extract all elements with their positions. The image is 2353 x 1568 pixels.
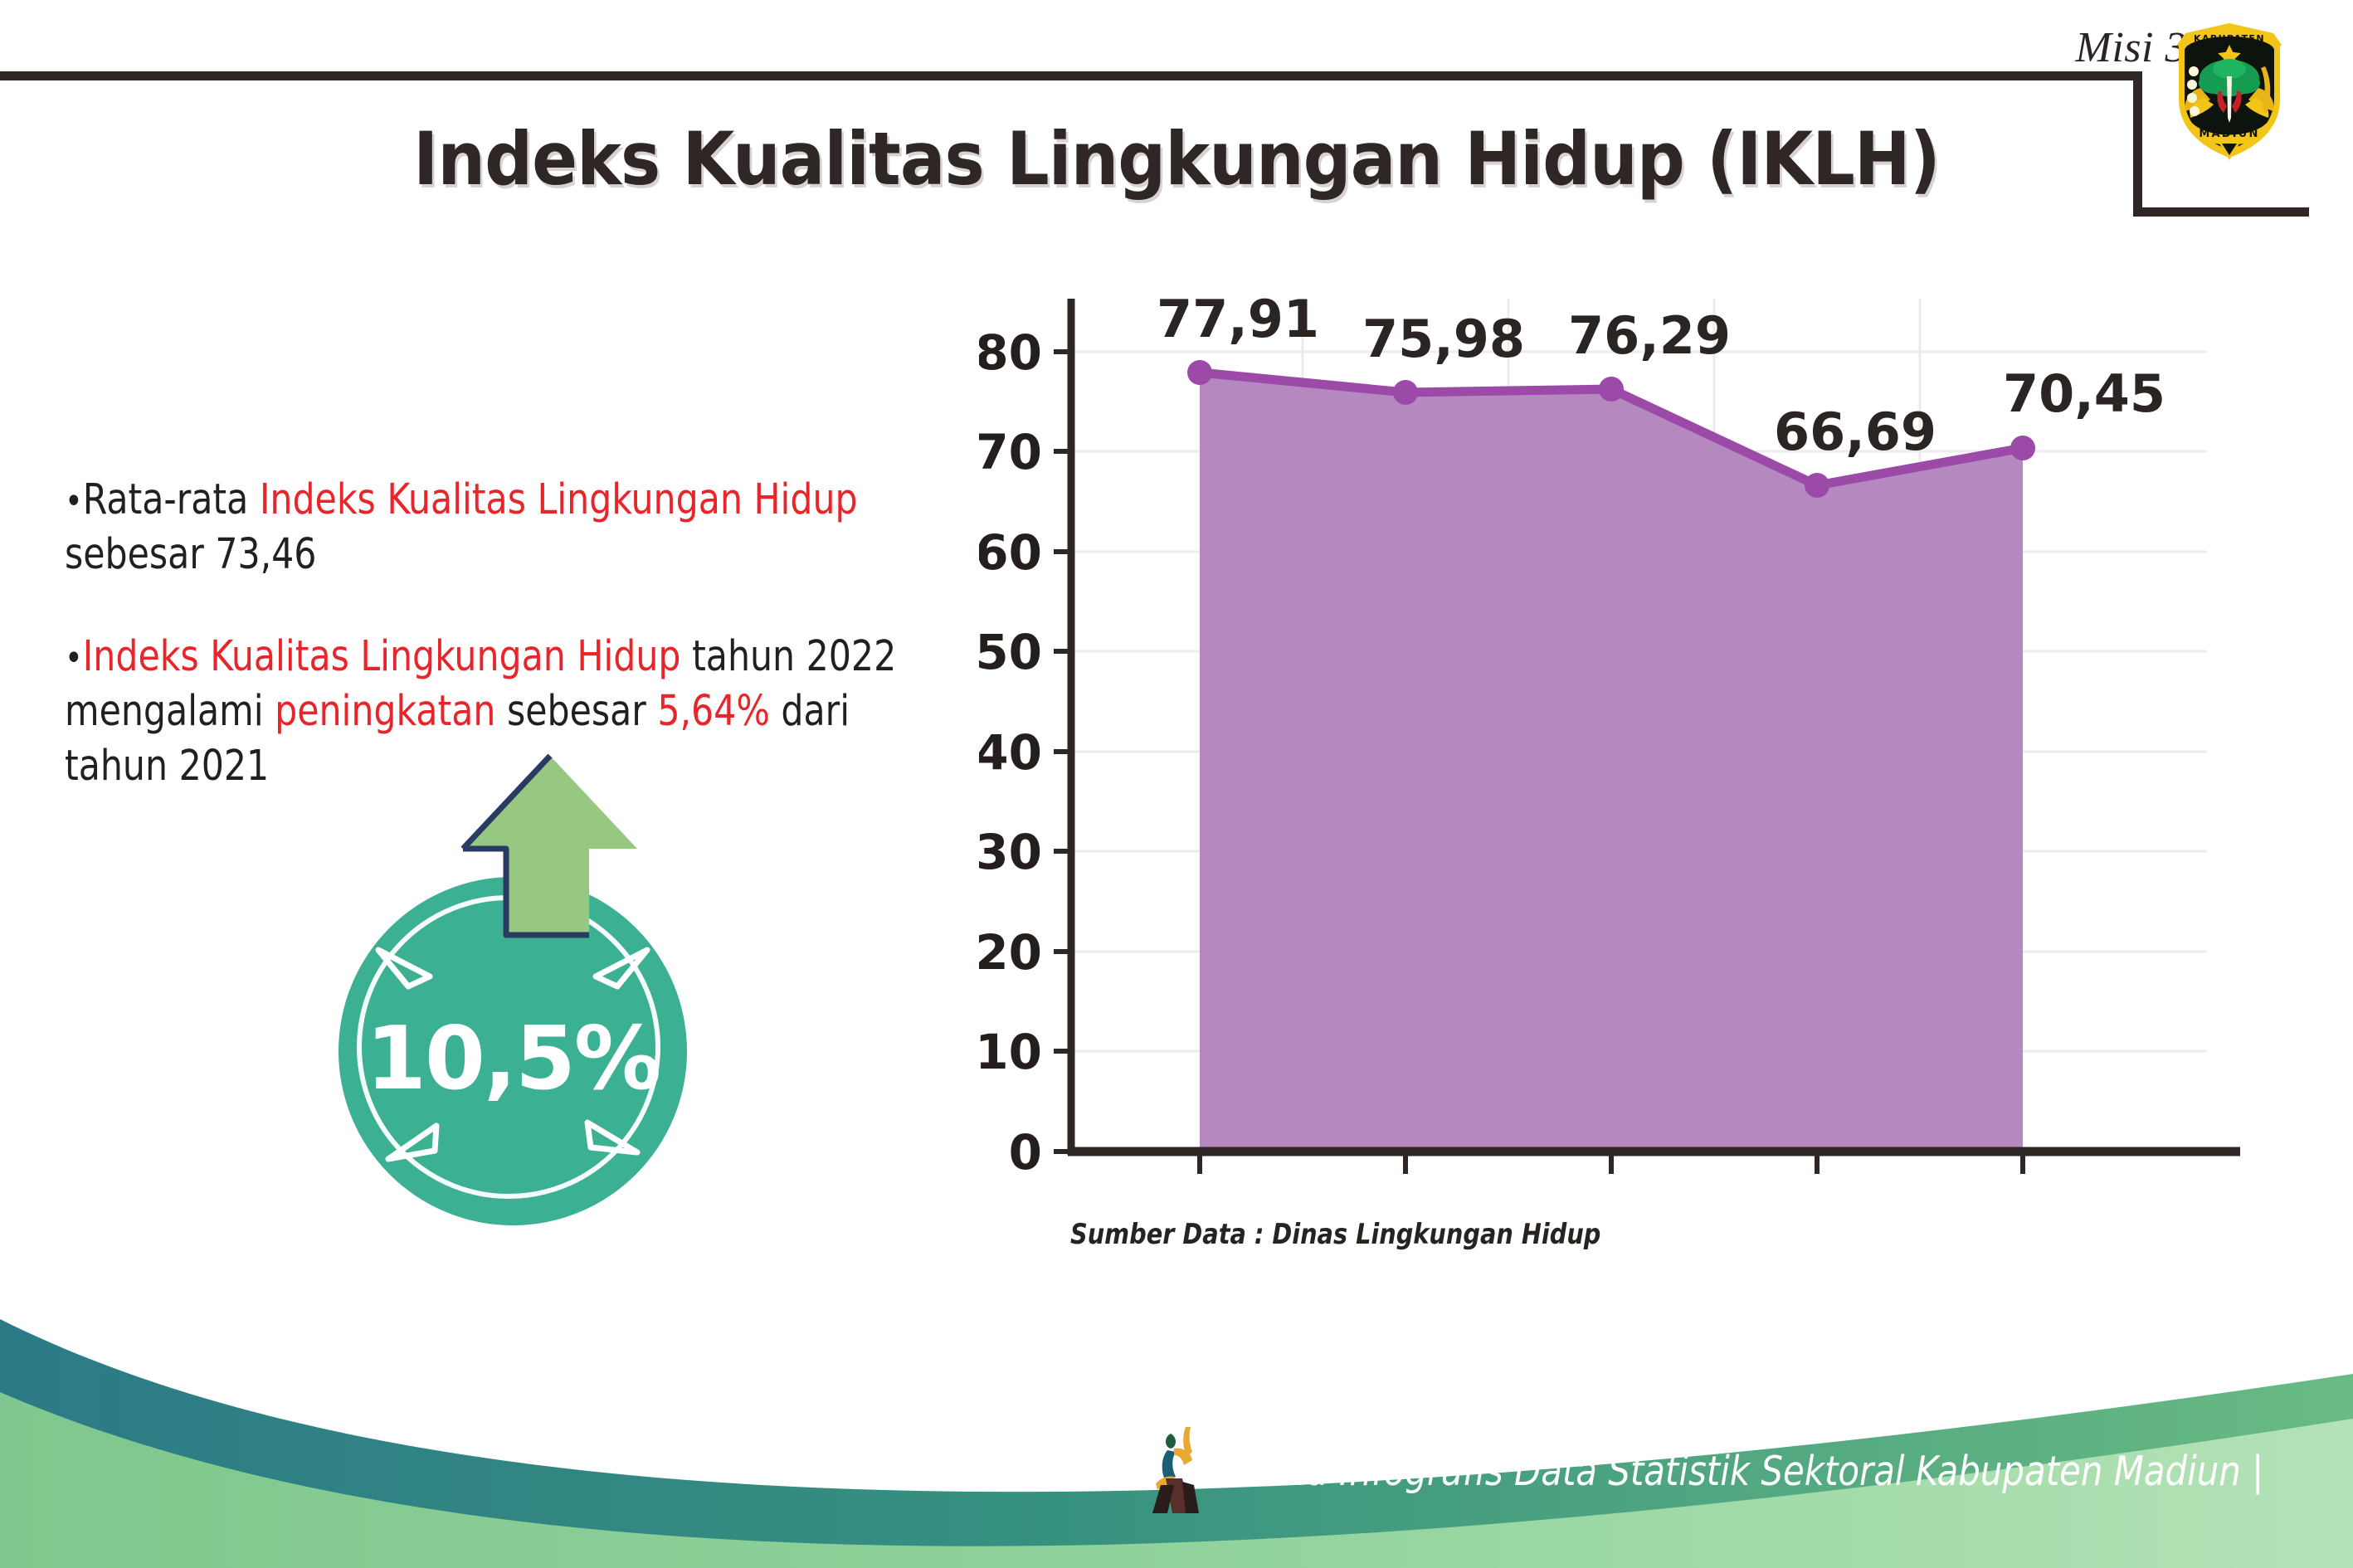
infographic-slide: Misi 3 bbox=[0, 0, 2353, 1568]
data-label: 77,91 bbox=[1157, 289, 1319, 349]
y-tick-label: 0 bbox=[1009, 1124, 1042, 1181]
iklh-area-chart: 80 70 60 50 40 30 20 10 0 2018 2019 2020… bbox=[979, 274, 2240, 1195]
y-tick-label: 30 bbox=[979, 824, 1042, 880]
bullet-2-seg-5: 5,64% bbox=[657, 687, 770, 736]
data-label: 75,98 bbox=[1362, 309, 1525, 369]
header-divider-horizontal bbox=[0, 71, 2142, 80]
header-divider-bottom bbox=[2133, 207, 2309, 217]
bullet-item-1: •Rata-rata Indeks Kualitas Lingkungan Hi… bbox=[65, 473, 921, 583]
badge-value: 10,5% bbox=[339, 877, 687, 1225]
bullet-1-seg-3: sebesar 73,46 bbox=[65, 530, 316, 579]
x-tick-label: 2021 bbox=[1738, 1189, 1895, 1195]
data-label: 66,69 bbox=[1774, 402, 1936, 462]
data-label: 70,45 bbox=[2003, 363, 2165, 424]
page-title: Indeks Kualitas Lingkungan Hidup (IKLH) bbox=[94, 116, 2258, 202]
footer-wave: Media Infografis Data Statistik Sektoral… bbox=[0, 1294, 2353, 1568]
chart-area-fill bbox=[1200, 373, 2023, 1152]
chart-svg: 80 70 60 50 40 30 20 10 0 2018 2019 2020… bbox=[979, 274, 2240, 1195]
x-tick-label: 2020 bbox=[1532, 1189, 1689, 1195]
bullet-2-seg-3: peningkatan bbox=[275, 687, 495, 736]
dancer-logo-icon bbox=[1149, 1420, 1219, 1517]
bullet-1-seg-2: Indeks Kualitas Lingkungan Hidup bbox=[260, 475, 858, 524]
x-tick-label: 2019 bbox=[1327, 1189, 1483, 1195]
x-tick-label: 2018 bbox=[1121, 1189, 1278, 1195]
y-tick-label: 20 bbox=[979, 924, 1042, 981]
increase-badge: 10,5% bbox=[330, 751, 762, 1232]
bullet-1-seg-1: Rata-rata bbox=[83, 475, 260, 524]
data-label: 76,29 bbox=[1568, 305, 1731, 366]
bullet-2-seg-4: sebesar bbox=[495, 687, 657, 736]
bullet-2-seg-1: Indeks Kualitas Lingkungan Hidup bbox=[83, 632, 681, 681]
y-tick-label: 60 bbox=[979, 524, 1042, 581]
bullet-marker-1: • bbox=[65, 480, 83, 523]
footer-caption: Media Infografis Data Statistik Sektoral… bbox=[1224, 1448, 2263, 1495]
x-tick-label: 2022 bbox=[1944, 1189, 2101, 1195]
y-tick-label: 80 bbox=[979, 324, 1042, 381]
y-tick-label: 40 bbox=[979, 724, 1042, 781]
source-note: Sumber Data : Dinas Lingkungan Hidup bbox=[1070, 1218, 1600, 1251]
bullet-marker-2: • bbox=[65, 637, 83, 679]
svg-text:KABUPATEN: KABUPATEN bbox=[2194, 33, 2265, 44]
y-tick-label: 70 bbox=[979, 424, 1042, 480]
chart-x-tick-labels: 2018 2019 2020 2021 2022 bbox=[1121, 1189, 2101, 1195]
y-tick-label: 10 bbox=[979, 1024, 1042, 1080]
y-tick-label: 50 bbox=[979, 624, 1042, 680]
chart-y-tick-labels: 80 70 60 50 40 30 20 10 0 bbox=[979, 324, 1042, 1181]
